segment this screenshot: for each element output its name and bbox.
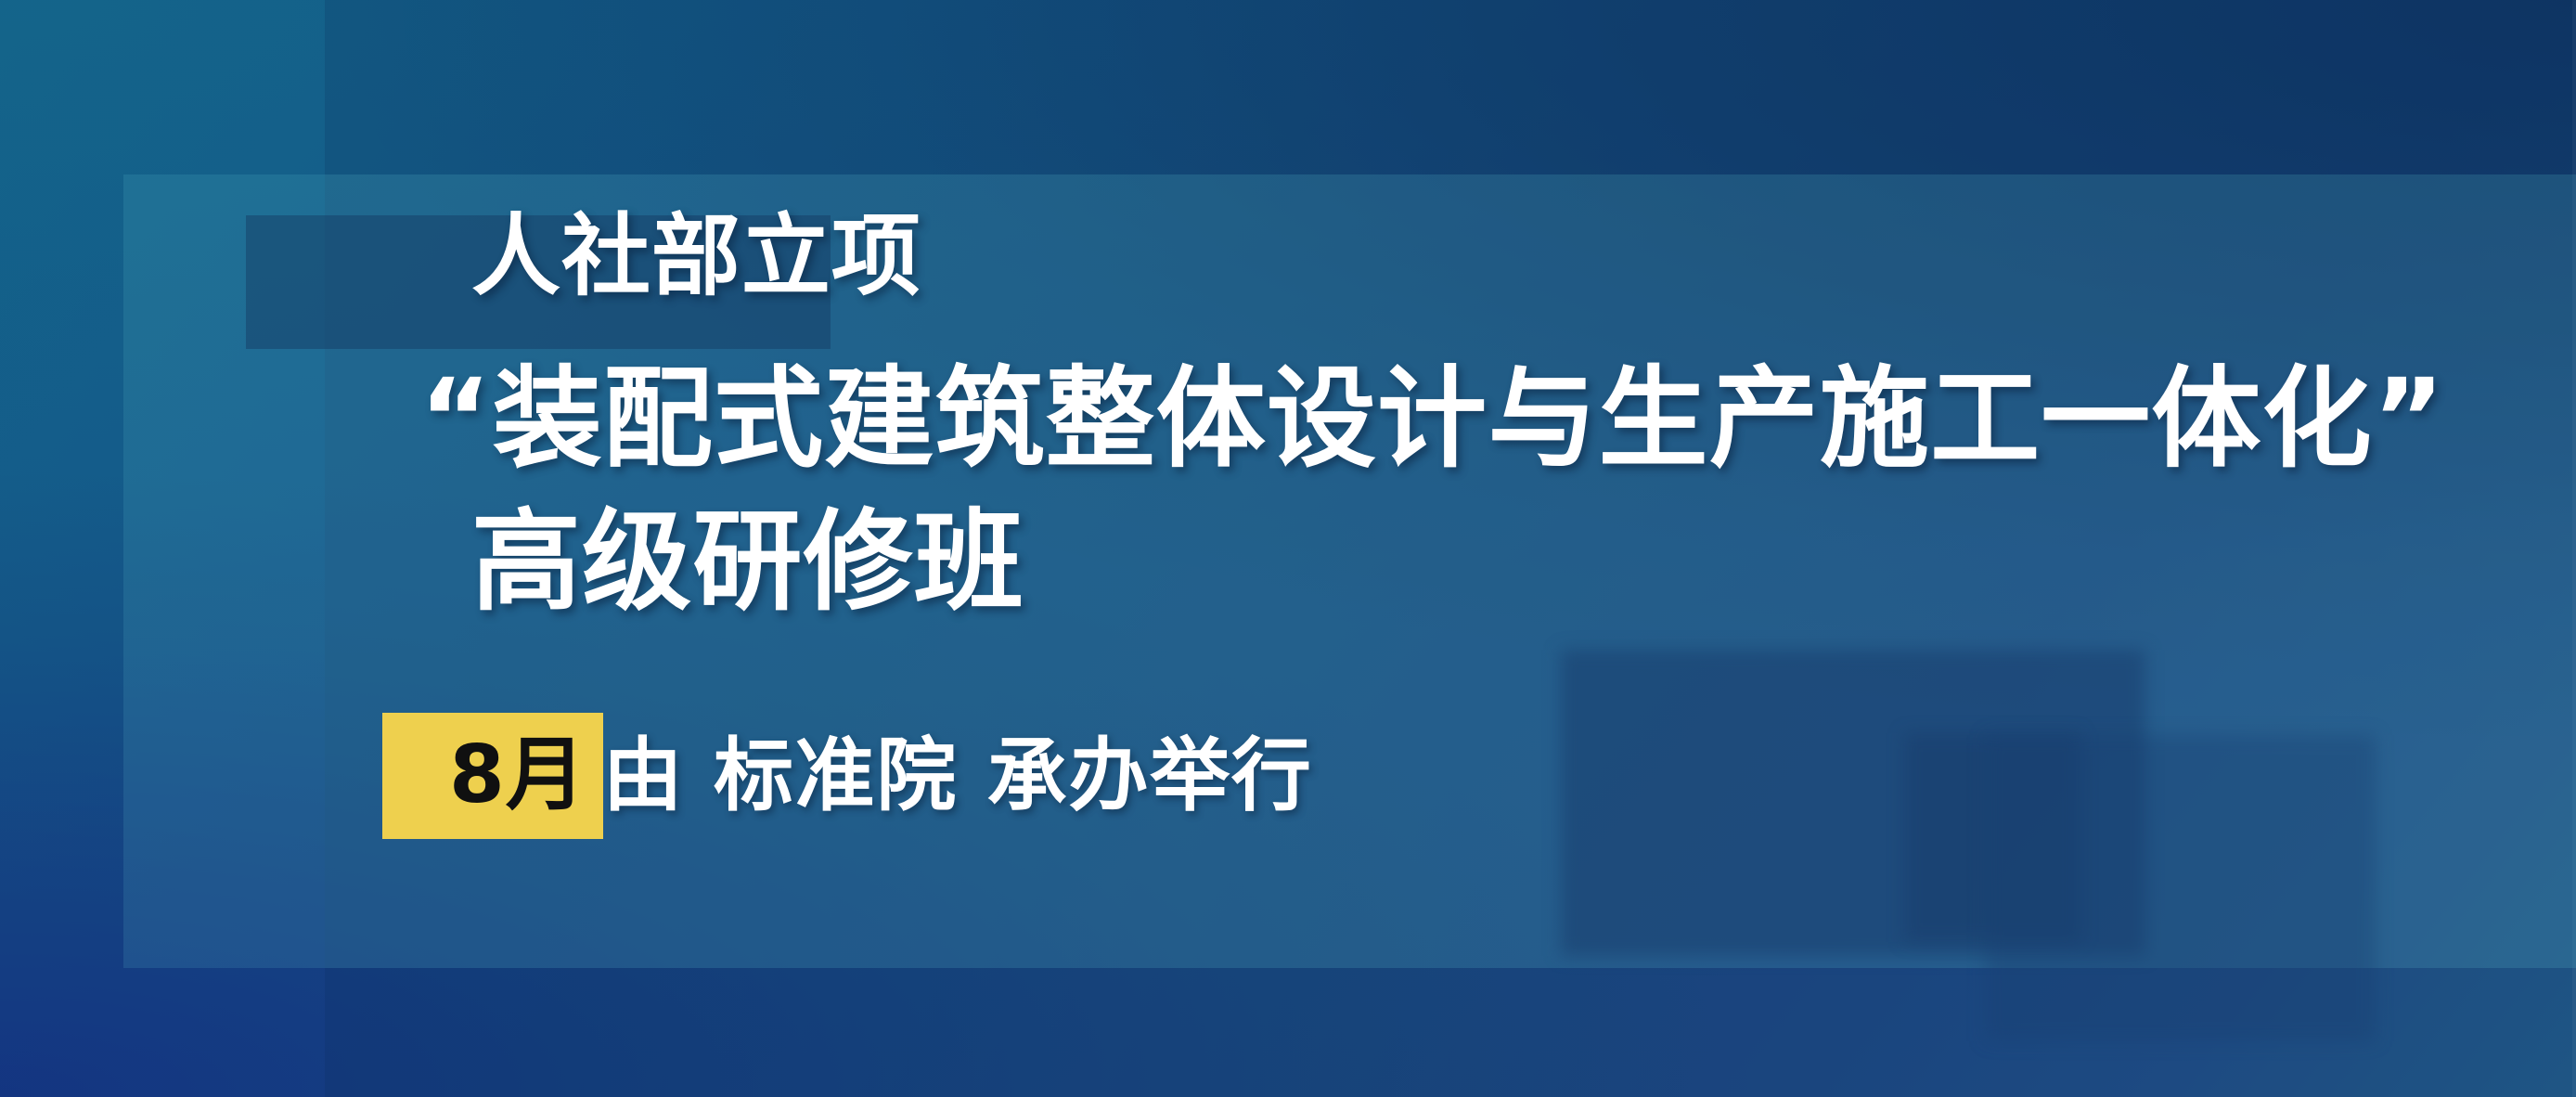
footer-organizer-text: 由 标准院 承办举行 bbox=[603, 736, 1313, 816]
month-badge: 8月 bbox=[382, 713, 603, 839]
eyebrow-title: 人社部立项 bbox=[471, 212, 921, 301]
poster-banner: 人社部立项 “装配式建筑整体设计与生产施工一体化” 高级研修班 8月 由 标准院… bbox=[0, 0, 2576, 1097]
text-layer: 人社部立项 “装配式建筑整体设计与生产施工一体化” 高级研修班 8月 由 标准院… bbox=[0, 0, 2576, 1097]
course-title-line-2: 高级研修班 bbox=[471, 507, 1024, 616]
course-title-line-1: “装配式建筑整体设计与生产施工一体化” bbox=[419, 364, 2446, 473]
footer-line: 8月 由 标准院 承办举行 bbox=[382, 713, 1313, 839]
